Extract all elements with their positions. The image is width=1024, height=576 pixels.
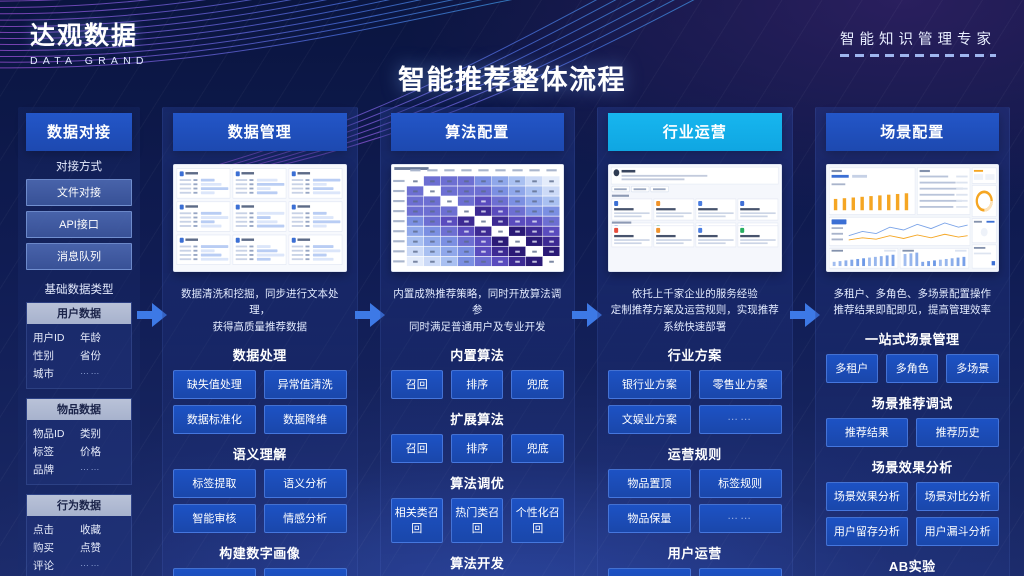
connect-option[interactable]: 消息队列 <box>26 243 132 270</box>
data-field: 点赞 <box>80 540 125 555</box>
feature-chip[interactable]: 相关类召回 <box>391 498 443 543</box>
app-screenshot-cards-grid[interactable] <box>173 164 347 272</box>
feature-chip[interactable]: 排序 <box>451 370 503 399</box>
feature-chip[interactable]: 多角色 <box>886 354 938 383</box>
flow-column-2: 数据管理数据清洗和挖掘，同步进行文本处理，获得高质量推荐数据数据处理缺失值处理异… <box>162 107 358 572</box>
tagline-text: 智能知识管理专家 <box>840 28 996 49</box>
feature-chip[interactable]: 用户留存分析 <box>826 517 909 546</box>
feature-chip-list: 召回排序兜底 <box>391 434 565 463</box>
feature-chip[interactable]: …… <box>699 504 782 533</box>
feature-group: 构建数字画像物品画像用户画像 <box>173 543 347 576</box>
data-field: 购买 <box>33 540 78 555</box>
feature-chip[interactable]: 标签管理 <box>699 568 782 576</box>
flow-column-1: 数据对接对接方式文件对接API接口消息队列基础数据类型用户数据用户ID年龄性别省… <box>18 107 140 572</box>
feature-chip[interactable]: 热门类召回 <box>451 498 503 543</box>
feature-chip[interactable]: 多租户 <box>826 354 878 383</box>
column-body: 数据对接对接方式文件对接API接口消息队列基础数据类型用户数据用户ID年龄性别省… <box>18 107 140 576</box>
flow-arrow <box>575 107 597 572</box>
feature-chip[interactable]: 情感分析 <box>264 504 347 533</box>
data-field: 省份 <box>80 348 125 363</box>
feature-chip[interactable]: 异常值清洗 <box>264 370 347 399</box>
feature-group-title: 算法开发 <box>391 553 565 572</box>
feature-chip-list: 多租户多角色多场景 <box>826 354 1000 383</box>
description-line: 同时满足普通用户及专业开发 <box>393 319 563 335</box>
connect-method-label: 对接方式 <box>26 158 132 174</box>
feature-group: 场景效果分析场景效果分析场景对比分析用户留存分析用户漏斗分析 <box>826 457 1000 546</box>
data-field: 年龄 <box>80 330 125 345</box>
feature-group-title: 内置算法 <box>391 345 565 364</box>
data-field: 品牌 <box>33 462 78 477</box>
feature-group: 算法调优相关类召回热门类召回个性化召回 <box>391 473 565 543</box>
data-type-box: 用户数据用户ID年龄性别省份城市…… <box>26 302 132 389</box>
connect-option[interactable]: API接口 <box>26 211 132 238</box>
feature-group: 内置算法召回排序兜底 <box>391 345 565 399</box>
flow-column-4: 行业运营依托上千家企业的服务经验定制推荐方案及运营规则，实现推荐系统快速部署行业… <box>597 107 793 572</box>
feature-chip-list: 推荐结果推荐历史 <box>826 418 1000 447</box>
data-field: 用户ID <box>33 330 78 345</box>
feature-group-title: 场景推荐调试 <box>826 393 1000 412</box>
feature-chip[interactable]: 语义分析 <box>264 469 347 498</box>
data-field: 价格 <box>80 444 125 459</box>
description-line: 内置成熟推荐策略，同时开放算法调参 <box>393 286 563 319</box>
column-description: 依托上千家企业的服务经验定制推荐方案及运营规则，实现推荐系统快速部署 <box>610 286 780 335</box>
feature-chip[interactable]: 零售业方案 <box>699 370 782 399</box>
tagline: 智能知识管理专家 <box>840 28 996 57</box>
feature-chip[interactable]: 文娱业方案 <box>608 405 691 434</box>
feature-chip[interactable]: 数据标准化 <box>173 405 256 434</box>
feature-group-title: 构建数字画像 <box>173 543 347 562</box>
feature-group-title: 数据处理 <box>173 345 347 364</box>
feature-group: 语义理解标签提取语义分析智能审核情感分析 <box>173 444 347 533</box>
feature-chip[interactable]: 物品置顶 <box>608 469 691 498</box>
feature-chip[interactable]: 兜底 <box>511 434 563 463</box>
data-field: 评论 <box>33 558 78 573</box>
feature-group-title: 运营规则 <box>608 444 782 463</box>
feature-chip[interactable]: 用户漏斗分析 <box>916 517 999 546</box>
feature-group: 场景推荐调试推荐结果推荐历史 <box>826 393 1000 447</box>
flow-arrow <box>358 107 380 572</box>
feature-chip[interactable]: 兜底 <box>511 370 563 399</box>
feature-chip-list: 召回排序兜底 <box>391 370 565 399</box>
feature-chip[interactable]: 物品画像 <box>173 568 256 576</box>
description-line: 推荐结果即配即见，提高管理效率 <box>828 302 998 318</box>
feature-chip[interactable]: 召回 <box>391 434 443 463</box>
column-header-5[interactable]: 场景配置 <box>826 113 1000 151</box>
column-description: 数据清洗和挖掘，同步进行文本处理，获得高质量推荐数据 <box>175 286 345 335</box>
data-type-box: 物品数据物品ID类别标签价格品牌…… <box>26 398 132 485</box>
feature-chip-list: 物品置顶标签规则物品保量…… <box>608 469 782 533</box>
tagline-underline <box>840 54 996 57</box>
data-field: 性别 <box>33 348 78 363</box>
feature-chip[interactable]: 多场景 <box>946 354 998 383</box>
flow-column-3: 算法配置内置成熟推荐策略，同时开放算法调参同时满足普通用户及专业开发内置算法召回… <box>380 107 576 572</box>
feature-group: 行业方案银行业方案零售业方案文娱业方案…… <box>608 345 782 434</box>
feature-chip[interactable]: 物品保量 <box>608 504 691 533</box>
feature-chip[interactable]: 用户画像 <box>264 568 347 576</box>
feature-chip-list: 缺失值处理异常值清洗数据标准化数据降维 <box>173 370 347 434</box>
column-header-3[interactable]: 算法配置 <box>391 113 565 151</box>
feature-group-title: 用户运营 <box>608 543 782 562</box>
data-field: …… <box>80 366 125 381</box>
feature-chip[interactable]: 场景效果分析 <box>826 482 909 511</box>
data-field: 收藏 <box>80 522 125 537</box>
feature-chip[interactable]: …… <box>699 405 782 434</box>
flow-columns: 数据对接对接方式文件对接API接口消息队列基础数据类型用户数据用户ID年龄性别省… <box>18 107 1010 572</box>
feature-group: 一站式场景管理多租户多角色多场景 <box>826 329 1000 383</box>
column-header-4[interactable]: 行业运营 <box>608 113 782 151</box>
column-description: 内置成熟推荐策略，同时开放算法调参同时满足普通用户及专业开发 <box>393 286 563 335</box>
feature-chip[interactable]: 数据降维 <box>264 405 347 434</box>
feature-chip[interactable]: 推荐历史 <box>916 418 999 447</box>
data-field: 标签 <box>33 444 78 459</box>
flow-column-5: 场景配置多租户、多角色、多场景配置操作推荐结果即配即见，提高管理效率一站式场景管… <box>815 107 1011 572</box>
feature-group: 扩展算法召回排序兜底 <box>391 409 565 463</box>
feature-chip[interactable]: 用户圈群 <box>608 568 691 576</box>
page-title: 智能推荐整体流程 <box>0 58 1024 97</box>
feature-group: 算法开发样本构造特征工程模型管理…… <box>391 553 565 576</box>
data-type-fields: 点击收藏购买点赞评论…… <box>27 516 131 576</box>
column-header-1[interactable]: 数据对接 <box>26 113 132 151</box>
description-line: 依托上千家企业的服务经验 <box>610 286 780 302</box>
data-type-box: 行为数据点击收藏购买点赞评论…… <box>26 494 132 576</box>
data-field: 点击 <box>33 522 78 537</box>
feature-group-title: 行业方案 <box>608 345 782 364</box>
data-field: 城市 <box>33 366 78 381</box>
feature-chip[interactable]: 缺失值处理 <box>173 370 256 399</box>
feature-group: AB实验实验分群实验报告 <box>826 556 1000 576</box>
column-body: 行业运营依托上千家企业的服务经验定制推荐方案及运营规则，实现推荐系统快速部署行业… <box>597 107 793 576</box>
flow-arrow <box>140 107 162 572</box>
feature-group-title: 一站式场景管理 <box>826 329 1000 348</box>
feature-group-title: 场景效果分析 <box>826 457 1000 476</box>
feature-chip-list: 场景效果分析场景对比分析用户留存分析用户漏斗分析 <box>826 482 1000 546</box>
data-field: …… <box>80 462 125 477</box>
feature-group-title: 语义理解 <box>173 444 347 463</box>
brand-name-cn: 达观数据 <box>30 16 149 52</box>
flow-arrow <box>793 107 815 572</box>
feature-chip-list: 相关类召回热门类召回个性化召回 <box>391 498 565 543</box>
feature-chip[interactable]: 标签提取 <box>173 469 256 498</box>
data-type-fields: 用户ID年龄性别省份城市…… <box>27 324 131 388</box>
feature-group: 运营规则物品置顶标签规则物品保量…… <box>608 444 782 533</box>
feature-group: 用户运营用户圈群标签管理用户画像…… <box>608 543 782 576</box>
feature-chip[interactable]: 推荐结果 <box>826 418 909 447</box>
column-header-2[interactable]: 数据管理 <box>173 113 347 151</box>
column-body: 数据管理数据清洗和挖掘，同步进行文本处理，获得高质量推荐数据数据处理缺失值处理异… <box>162 107 358 576</box>
description-line: 数据清洗和挖掘，同步进行文本处理， <box>175 286 345 319</box>
slide-canvas: 达观数据 DATA GRAND 智能知识管理专家 智能推荐整体流程 数据对接对接… <box>0 0 1024 576</box>
description-line: 定制推荐方案及运营规则，实现推荐系统快速部署 <box>610 302 780 335</box>
app-screenshot-solution-cards[interactable] <box>608 164 782 272</box>
feature-chip-list: 物品画像用户画像 <box>173 568 347 576</box>
data-type-title[interactable]: 行为数据 <box>27 495 131 516</box>
description-line: 多租户、多角色、多场景配置操作 <box>828 286 998 302</box>
feature-group-title: AB实验 <box>826 556 1000 575</box>
feature-group: 数据处理缺失值处理异常值清洗数据标准化数据降维 <box>173 345 347 434</box>
data-field: 物品ID <box>33 426 78 441</box>
data-field: …… <box>80 558 125 573</box>
feature-chip[interactable]: 个性化召回 <box>511 498 563 543</box>
data-type-title[interactable]: 用户数据 <box>27 303 131 324</box>
column-description: 多租户、多角色、多场景配置操作推荐结果即配即见，提高管理效率 <box>828 286 998 319</box>
feature-chip[interactable]: 排序 <box>451 434 503 463</box>
data-type-fields: 物品ID类别标签价格品牌…… <box>27 420 131 484</box>
description-line: 获得高质量推荐数据 <box>175 319 345 335</box>
feature-chip[interactable]: 标签规则 <box>699 469 782 498</box>
app-screenshot-dashboard[interactable] <box>826 164 1000 272</box>
feature-group-title: 扩展算法 <box>391 409 565 428</box>
data-type-title[interactable]: 物品数据 <box>27 399 131 420</box>
data-field: 类别 <box>80 426 125 441</box>
column-body: 场景配置多租户、多角色、多场景配置操作推荐结果即配即见，提高管理效率一站式场景管… <box>815 107 1011 576</box>
feature-chip-list: 用户圈群标签管理用户画像…… <box>608 568 782 576</box>
feature-chip[interactable]: 智能审核 <box>173 504 256 533</box>
feature-group-title: 算法调优 <box>391 473 565 492</box>
feature-chip[interactable]: 银行业方案 <box>608 370 691 399</box>
connect-option[interactable]: 文件对接 <box>26 179 132 206</box>
feature-chip[interactable]: 场景对比分析 <box>916 482 999 511</box>
feature-chip-list: 银行业方案零售业方案文娱业方案…… <box>608 370 782 434</box>
column-body: 算法配置内置成熟推荐策略，同时开放算法调参同时满足普通用户及专业开发内置算法召回… <box>380 107 576 576</box>
base-data-type-label: 基础数据类型 <box>26 281 132 297</box>
feature-chip[interactable]: 召回 <box>391 370 443 399</box>
feature-chip-list: 标签提取语义分析智能审核情感分析 <box>173 469 347 533</box>
app-screenshot-heatmap[interactable] <box>391 164 565 272</box>
